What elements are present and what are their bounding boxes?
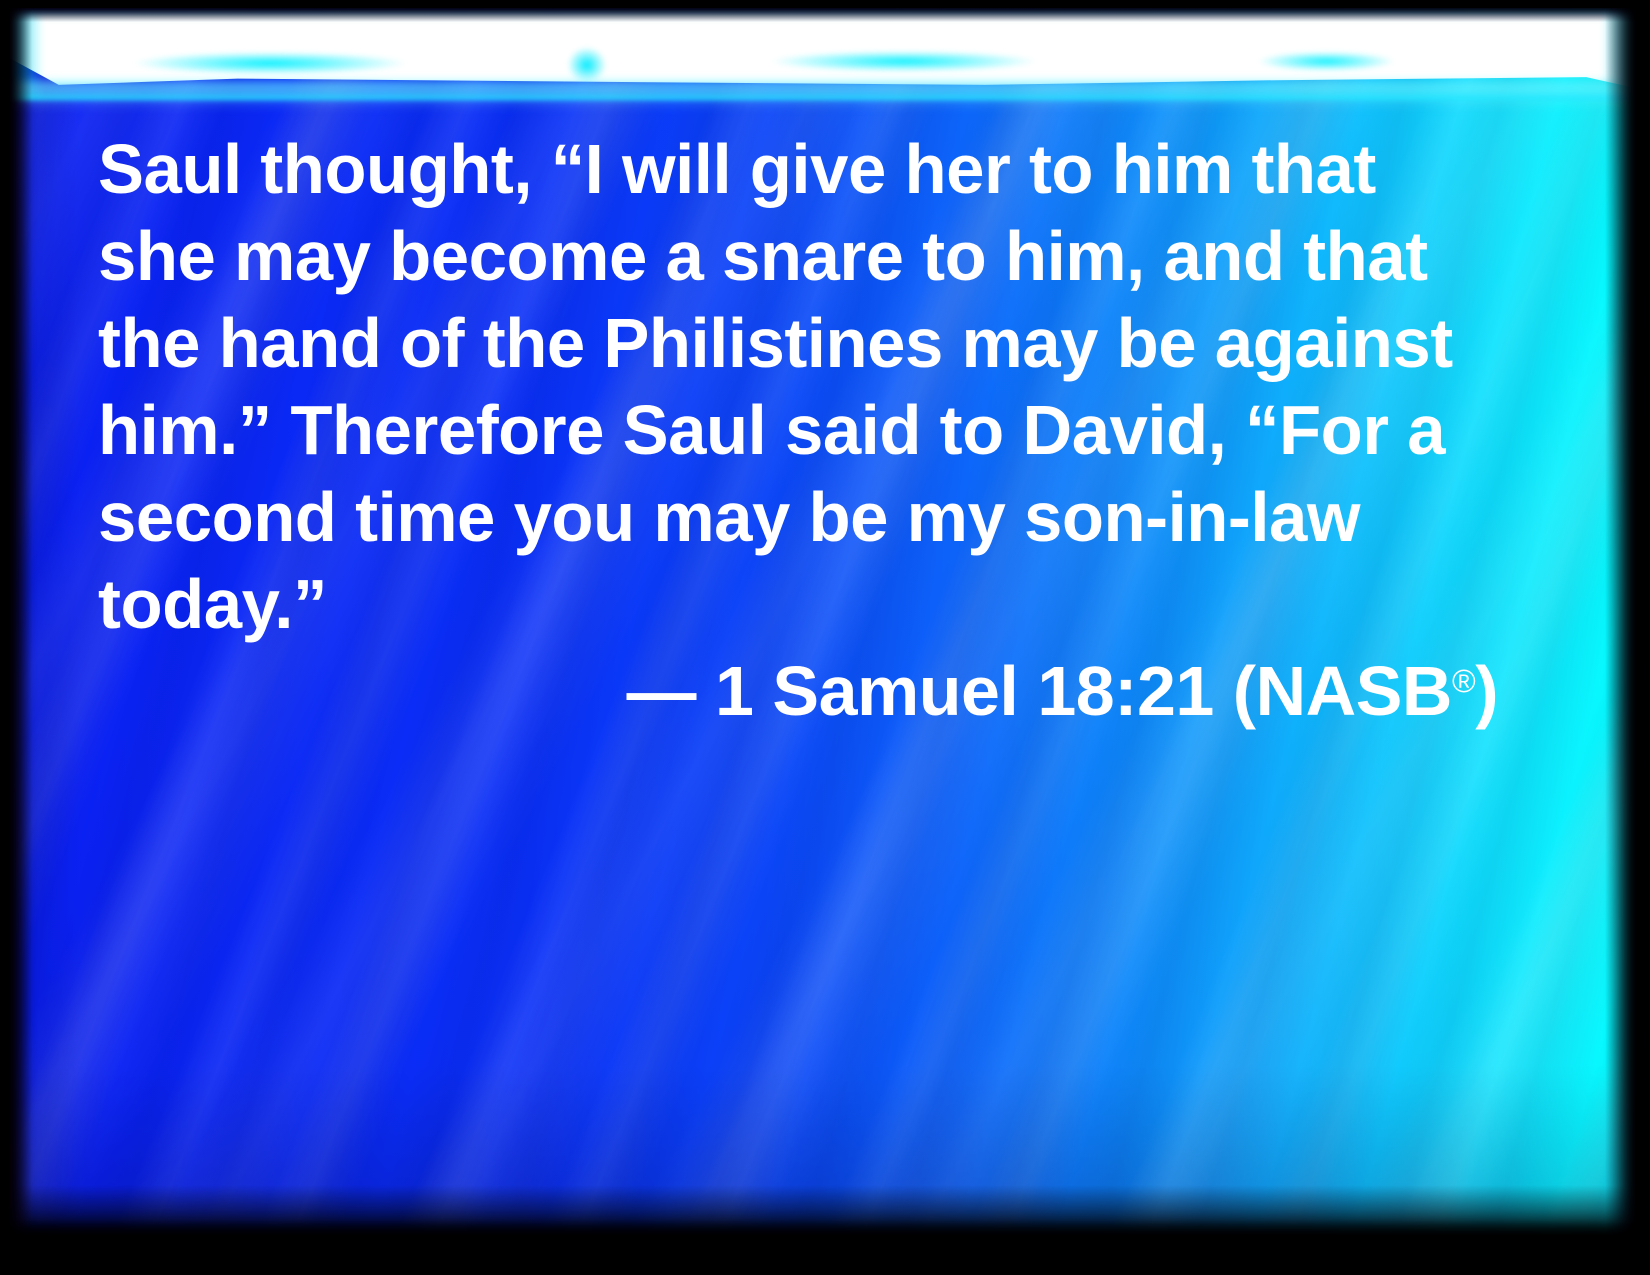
registered-trademark-icon: ® <box>1452 663 1475 699</box>
top-light-bar <box>10 8 1635 100</box>
attribution-close-paren: ) <box>1475 652 1498 730</box>
light-bar-cyan-glow <box>10 8 1635 100</box>
light-bar-haze <box>10 82 1635 108</box>
light-bar-core <box>10 10 1635 88</box>
slide-canvas: Saul thought, “I will give her to him th… <box>10 8 1635 1237</box>
verse-attribution: Saul thought, “I will give her to him th… <box>98 126 1498 735</box>
attribution-line: — 1 Samuel 18:21 (NASB®) <box>98 648 1498 735</box>
attribution-reference-text: — 1 Samuel 18:21 (NASB <box>627 652 1452 730</box>
verse-slide: Saul thought, “I will give her to him th… <box>0 0 1650 1275</box>
